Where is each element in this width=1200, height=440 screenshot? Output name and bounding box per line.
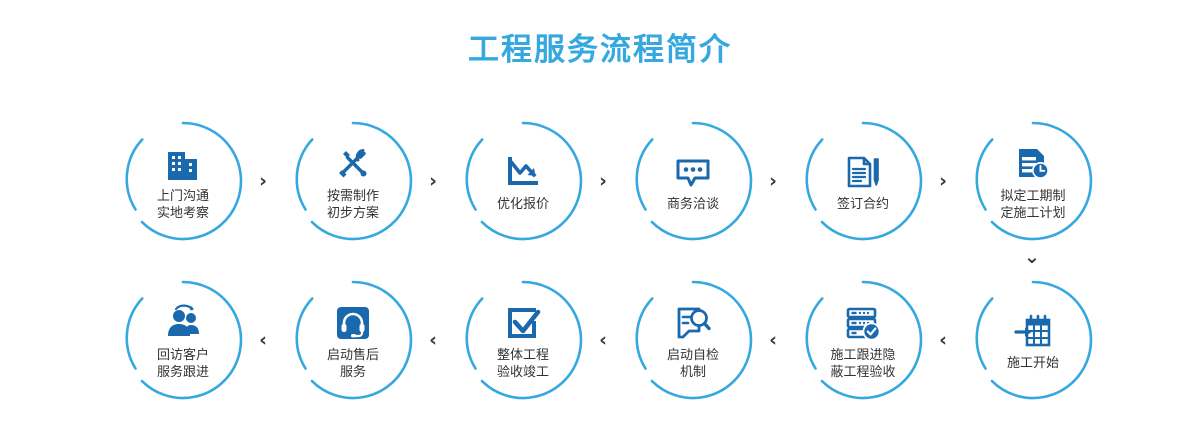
flow-step-label-line2: 蔽工程验收 (830, 364, 895, 381)
flow-step-body: 商务洽谈 (633, 121, 753, 241)
flow-step-4[interactable]: 商务洽谈 (613, 101, 773, 261)
flow-step-body: 签订合约 (803, 121, 923, 241)
flow-step-11[interactable]: 启动售后 服务 (273, 260, 433, 420)
flow-step-label-line1: 启动自检 (667, 347, 719, 364)
flow-step-body: 优化报价 (463, 121, 583, 241)
flow-row-2: 回访客户 服务跟进 ‹ (0, 260, 1200, 420)
flow-step-9[interactable]: 启动自检 机制 (613, 260, 773, 420)
document-clock-icon (1012, 143, 1054, 185)
server-check-icon (842, 302, 884, 344)
flow-step-label-line2: 定施工计划 (1000, 205, 1065, 222)
connector-arrow-left: ‹ (423, 329, 443, 351)
connector-arrow-left: ‹ (933, 329, 953, 351)
building-icon (162, 143, 204, 185)
process-flow-infographic: 工程服务流程简介 (0, 0, 1200, 440)
flow-step-body: 回访客户 服务跟进 (123, 280, 243, 400)
flow-step-label-line1: 回访客户 (157, 347, 209, 364)
page-title: 工程服务流程简介 (0, 24, 1200, 69)
chat-bubble-icon (672, 151, 714, 193)
flow-step-label-line1: 拟定工期制 (1000, 188, 1065, 205)
flow-step-body: 施工跟进隐 蔽工程验收 (803, 280, 923, 400)
flow-step-12[interactable]: 回访客户 服务跟进 (103, 260, 263, 420)
flow-step-label-line1: 签订合约 (837, 196, 889, 213)
flow-step-label-line2: 服务跟进 (157, 364, 209, 381)
chart-down-icon (502, 151, 544, 193)
flow-step-label-line1: 启动售后 (327, 347, 379, 364)
flow-step-label-line1: 上门沟通 (157, 188, 209, 205)
flow-step-1[interactable]: 上门沟通 实地考察 (103, 101, 263, 261)
flow-step-label-line1: 整体工程 (497, 347, 549, 364)
calendar-arrow-icon (1012, 310, 1054, 352)
flow-step-label-line2: 初步方案 (327, 205, 379, 222)
connector-arrow-left: ‹ (763, 329, 783, 351)
flow-step-body: 按需制作 初步方案 (293, 121, 413, 241)
flow-step-5[interactable]: 签订合约 (783, 101, 943, 261)
flow-row-1: 上门沟通 实地考察 › (0, 101, 1200, 261)
flow-step-label-line2: 机制 (680, 364, 706, 381)
connector-arrow-left: ‹ (253, 329, 273, 351)
flow-step-label-line1: 优化报价 (497, 196, 549, 213)
connector-arrow-right: › (763, 170, 783, 192)
headset-icon (332, 302, 374, 344)
flow-step-body: 整体工程 验收竣工 (463, 280, 583, 400)
flow-step-label-line2: 服务 (340, 364, 366, 381)
connector-arrow-right: › (933, 170, 953, 192)
flow-step-label-line1: 商务洽谈 (667, 196, 719, 213)
flow-step-label-line2: 验收竣工 (497, 364, 549, 381)
flow-step-body: 上门沟通 实地考察 (123, 121, 243, 241)
flow-step-8[interactable]: 施工跟进隐 蔽工程验收 (783, 260, 943, 420)
connector-arrow-right: › (253, 170, 273, 192)
flow-step-body: 拟定工期制 定施工计划 (973, 121, 1093, 241)
flow-step-10[interactable]: 整体工程 验收竣工 (443, 260, 603, 420)
flow-step-body: 启动售后 服务 (293, 280, 413, 400)
flow-step-body: 施工开始 (973, 280, 1093, 400)
document-search-icon (672, 302, 714, 344)
flow-step-body: 启动自检 机制 (633, 280, 753, 400)
flow-step-label-line1: 按需制作 (327, 188, 379, 205)
flow-step-7[interactable]: 施工开始 (953, 260, 1113, 420)
checkbox-check-icon (502, 302, 544, 344)
connector-arrow-right: › (593, 170, 613, 192)
flow-step-2[interactable]: 按需制作 初步方案 (273, 101, 433, 261)
connector-arrow-right: › (423, 170, 443, 192)
connector-arrow-left: ‹ (593, 329, 613, 351)
flow-step-6[interactable]: 拟定工期制 定施工计划 (953, 101, 1113, 261)
flow-step-3[interactable]: 优化报价 (443, 101, 603, 261)
flow-step-label-line1: 施工开始 (1007, 355, 1059, 372)
flow-step-label-line2: 实地考察 (157, 205, 209, 222)
flow-step-label-line1: 施工跟进隐 (830, 347, 895, 364)
contract-pen-icon (842, 151, 884, 193)
tools-icon (332, 143, 374, 185)
users-icon (162, 302, 204, 344)
